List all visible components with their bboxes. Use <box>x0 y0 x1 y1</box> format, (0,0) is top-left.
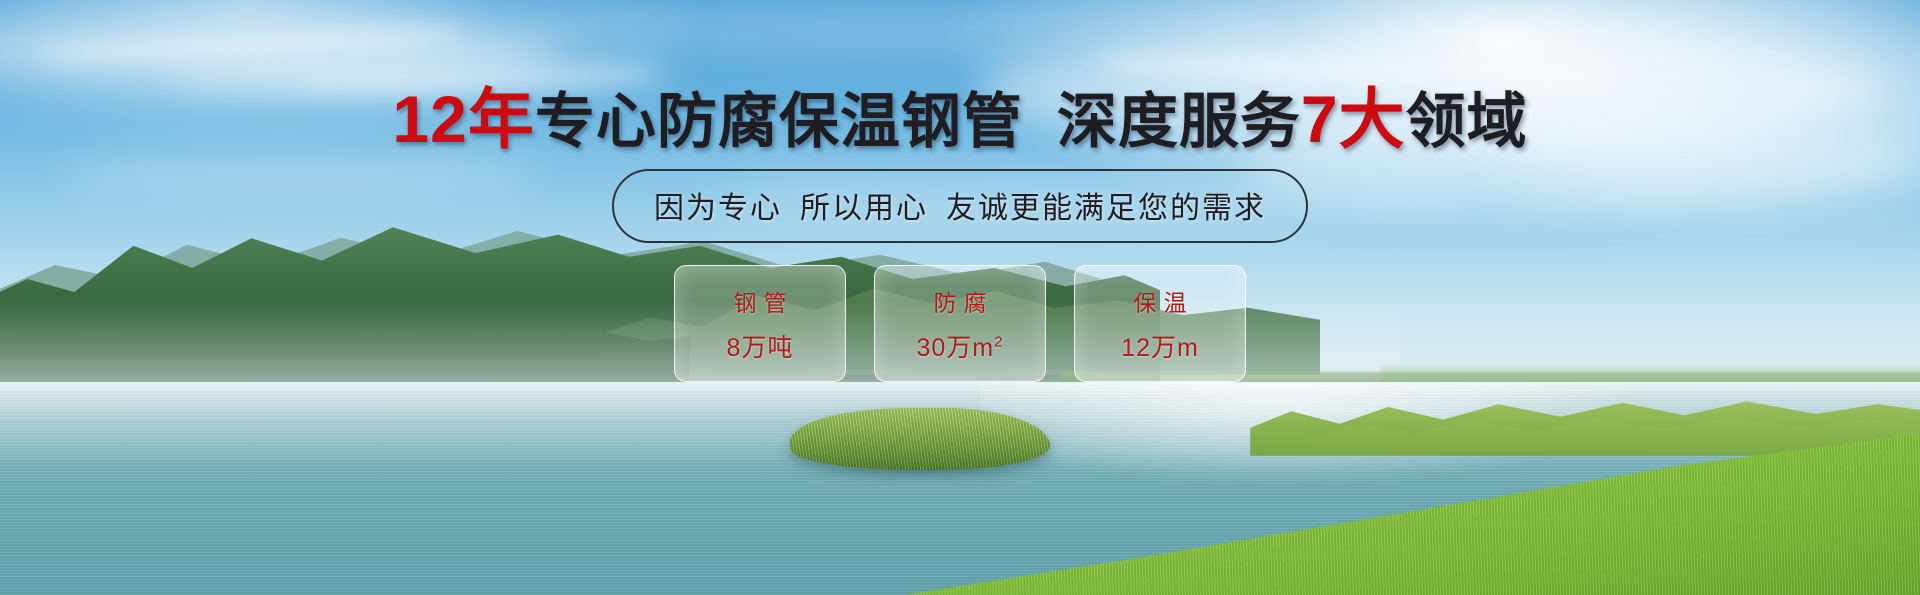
stat-card-insulation: 保温 12万m <box>1074 265 1246 382</box>
subtitle-part-2: 所以用心 <box>800 192 928 225</box>
banner-headline: 12年专心防腐保温钢管深度服务7大领域 <box>0 86 1920 152</box>
stat-card-label: 保温 <box>1127 284 1194 318</box>
headline-seven: 7大 <box>1301 82 1406 156</box>
headline-fields: 领域 <box>1406 88 1528 155</box>
headline-service: 深度服务 <box>1057 88 1301 155</box>
stat-card-label: 防腐 <box>927 284 994 318</box>
stat-card-value: 12万m <box>1121 328 1199 364</box>
headline-years: 12年 <box>392 82 534 156</box>
grass-island-texture <box>790 408 1050 470</box>
banner-subtitle: 因为专心所以用心友诚更能满足您的需求 <box>612 169 1308 243</box>
stat-card-group: 钢管 8万吨 防腐 30万m2 保温 12万m <box>674 265 1246 382</box>
subtitle-part-3: 友诚更能满足您的需求 <box>946 192 1266 225</box>
stat-card-value: 30万m2 <box>917 328 1004 364</box>
stat-card-anticorrosion: 防腐 30万m2 <box>874 265 1046 382</box>
subtitle-part-1: 因为专心 <box>654 192 782 225</box>
stat-card-value: 8万吨 <box>727 328 794 364</box>
stat-card-value-text: 30万m <box>917 334 995 362</box>
stat-card-label: 钢管 <box>727 284 794 318</box>
stat-card-value-superscript: 2 <box>994 333 1003 350</box>
stat-card-value-text: 8万吨 <box>727 334 794 362</box>
hero-banner: 12年专心防腐保温钢管深度服务7大领域 因为专心所以用心友诚更能满足您的需求 钢… <box>0 0 1920 595</box>
stat-card-value-text: 12万m <box>1121 334 1199 362</box>
headline-main: 专心防腐保温钢管 <box>535 88 1023 155</box>
stat-card-steel-pipe: 钢管 8万吨 <box>674 265 846 382</box>
